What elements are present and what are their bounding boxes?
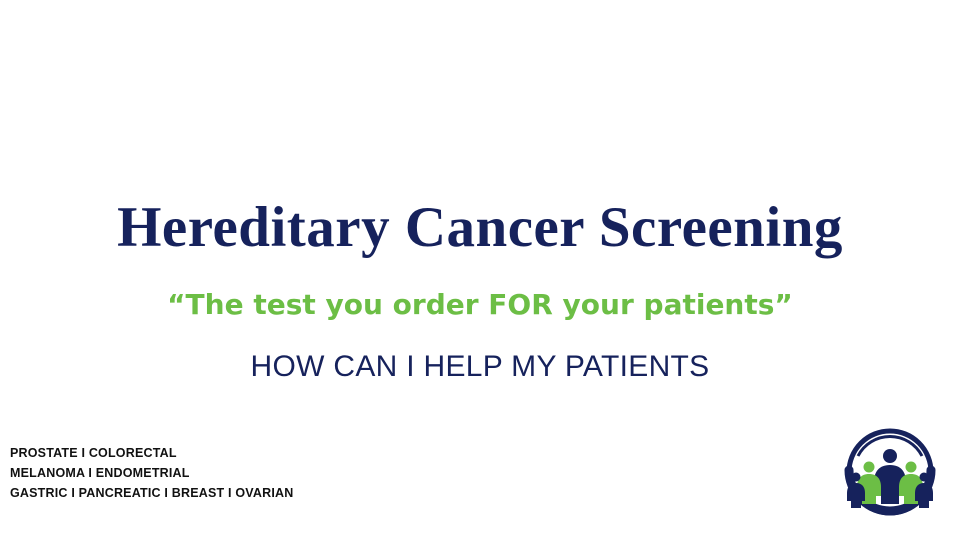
cancer-type-line-3: GASTRIC I PANCREATIC I BREAST I OVARIAN — [10, 483, 294, 503]
cancer-type-line-1: PROSTATE I COLORECTAL — [10, 443, 294, 463]
page-title: Hereditary Cancer Screening — [0, 198, 960, 258]
subtitle-quote: “The test you order FOR your patients” — [0, 288, 960, 321]
cancer-type-list: PROSTATE I COLORECTAL MELANOMA I ENDOMET… — [10, 443, 294, 503]
cancer-type-line-2: MELANOMA I ENDOMETRIAL — [10, 463, 294, 483]
slide-canvas: Hereditary Cancer Screening “The test yo… — [0, 0, 960, 540]
tagline: HOW CAN I HELP MY PATIENTS — [0, 350, 960, 384]
people-circle-logo-icon — [838, 420, 942, 524]
